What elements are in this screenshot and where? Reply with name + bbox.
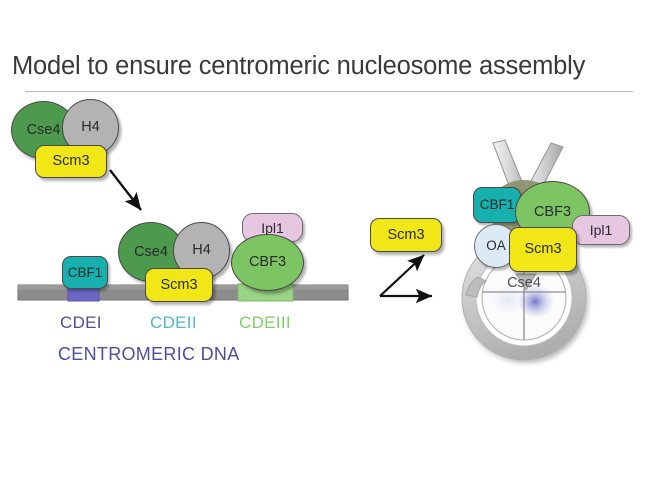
centromere-cse4-label: Cse4 bbox=[134, 245, 168, 260]
centromere-cbf3[interactable]: CBF3 bbox=[231, 234, 304, 291]
released-scm3[interactable]: Scm3 bbox=[370, 218, 442, 252]
centromere-cbf1[interactable]: CBF1 bbox=[62, 256, 108, 289]
centromere-cbf3-label: CBF3 bbox=[249, 255, 286, 270]
nucleosome-scm3[interactable]: Scm3 bbox=[509, 227, 577, 272]
slide-canvas: Model to ensure centromeric nucleosome a… bbox=[0, 0, 654, 491]
free-complex-cse4-label: Cse4 bbox=[27, 123, 61, 138]
title-divider bbox=[25, 91, 633, 92]
nucleosome-oa-label: OA bbox=[486, 239, 506, 253]
nucleosome-scm3-label: Scm3 bbox=[524, 242, 561, 257]
nucleosome-ipl1-label: Ipl1 bbox=[590, 223, 613, 237]
centromere-scm3-label: Scm3 bbox=[160, 278, 197, 293]
loading-arrow bbox=[110, 170, 141, 210]
centromere-scm3[interactable]: Scm3 bbox=[145, 268, 213, 302]
nucleosome-cbf3-label: CBF3 bbox=[534, 205, 571, 220]
dna-label-cdei: CDEI bbox=[60, 313, 102, 333]
dna-label-cdeiii: CDEIII bbox=[239, 313, 291, 333]
nucleosome-cbf1[interactable]: CBF1 bbox=[473, 187, 521, 223]
nucleosome-ipl1[interactable]: Ipl1 bbox=[572, 215, 630, 245]
centromere-cbf1-label: CBF1 bbox=[68, 266, 103, 280]
dna-caption: CENTROMERIC DNA bbox=[58, 344, 240, 365]
nucleosome-cse4-label: Cse4 bbox=[507, 275, 541, 291]
centromere-h4-label: H4 bbox=[192, 243, 211, 258]
free-complex-scm3[interactable]: Scm3 bbox=[35, 145, 107, 178]
page-title: Model to ensure centromeric nucleosome a… bbox=[12, 52, 644, 81]
free-complex-scm3-label: Scm3 bbox=[52, 154, 89, 169]
centromere-ipl1-label: Ipl1 bbox=[261, 221, 284, 235]
assembly-arrow-up bbox=[380, 255, 424, 296]
released-scm3-label: Scm3 bbox=[387, 228, 424, 243]
nucleosome-cbf1-label: CBF1 bbox=[480, 198, 515, 212]
dna-label-cdeii: CDEII bbox=[150, 313, 197, 333]
free-complex-h4-label: H4 bbox=[81, 120, 100, 135]
